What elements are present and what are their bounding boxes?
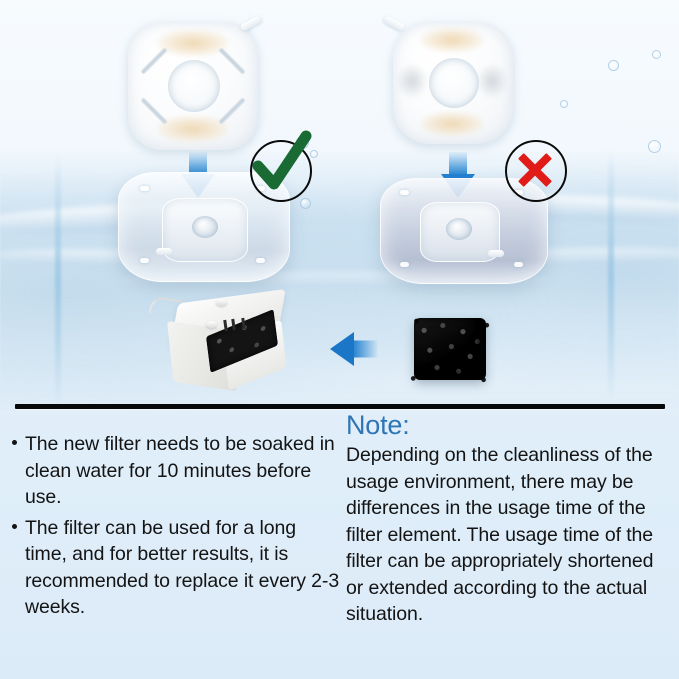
filter-pad-stain xyxy=(158,116,228,142)
arrow-stem xyxy=(189,152,207,174)
filter-pad-hole xyxy=(429,58,479,108)
check-badge xyxy=(250,140,312,202)
arrow-head xyxy=(330,332,354,366)
housing-nozzle xyxy=(156,248,172,255)
tip-text: The new filter needs to be soaked in cle… xyxy=(25,433,335,508)
list-item: The filter can be used for a long time, … xyxy=(10,515,340,621)
filter-pad-right xyxy=(393,22,513,144)
tips-column: The new filter needs to be soaked in cle… xyxy=(10,431,340,625)
filter-pad-hole xyxy=(168,60,220,112)
note-title: Note: xyxy=(346,409,672,441)
sponge-cube xyxy=(414,318,486,380)
housing-port xyxy=(192,216,218,238)
housing-clip xyxy=(400,262,409,267)
housing-clip xyxy=(140,186,149,191)
filter-pad-stain xyxy=(421,28,483,52)
bullet-dot-icon xyxy=(12,524,17,529)
filter-pad-stain xyxy=(158,30,228,56)
bubble-icon xyxy=(648,140,661,153)
note-body: Depending on the cleanliness of the usag… xyxy=(346,442,672,628)
housing-clip xyxy=(256,258,265,263)
product-instruction-graphic: The new filter needs to be soaked in cle… xyxy=(0,0,679,679)
filter-pad-stain xyxy=(421,112,483,136)
pump-knob xyxy=(206,321,217,328)
pump-knob xyxy=(216,299,227,306)
water-streak xyxy=(55,155,61,405)
housing-clip xyxy=(514,262,523,267)
cross-icon xyxy=(515,150,555,190)
list-item: The new filter needs to be soaked in cle… xyxy=(10,431,340,511)
cross-badge xyxy=(505,140,567,202)
water-streak xyxy=(608,150,614,400)
filter-pump xyxy=(168,296,290,392)
housing-clip xyxy=(400,190,409,195)
note-column: Note: Depending on the cleanliness of th… xyxy=(346,409,672,628)
bullet-dot-icon xyxy=(12,440,17,445)
tip-text: The filter can be used for a long time, … xyxy=(25,517,339,619)
bubble-icon xyxy=(560,100,568,108)
arrow-stem xyxy=(354,341,378,358)
filter-pad-shade xyxy=(477,64,507,98)
housing-nozzle xyxy=(488,250,504,257)
filter-pad-shade xyxy=(397,64,427,98)
filter-pad-left xyxy=(128,22,258,150)
arrow-left-icon xyxy=(330,332,378,366)
arrow-stem xyxy=(449,152,467,174)
housing-port xyxy=(446,218,472,240)
housing-clip xyxy=(140,258,149,263)
bubble-icon xyxy=(652,50,661,59)
text-panel: The new filter needs to be soaked in cle… xyxy=(0,409,679,679)
bubble-icon xyxy=(608,60,619,71)
check-icon xyxy=(248,128,314,200)
